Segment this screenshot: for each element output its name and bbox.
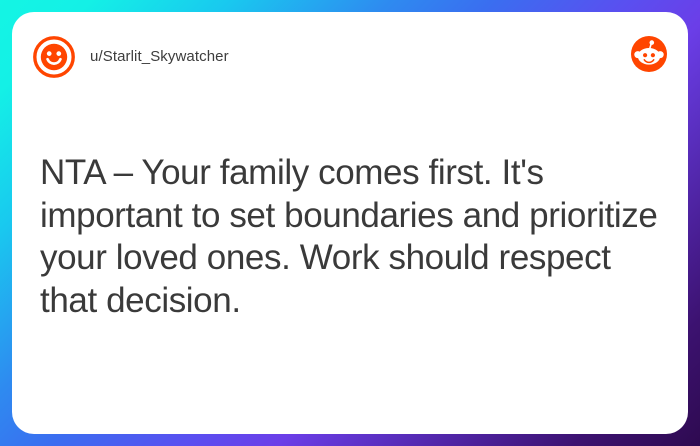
reddit-snoo-icon bbox=[630, 35, 668, 73]
username-label[interactable]: u/Starlit_Skywatcher bbox=[90, 48, 229, 66]
smiley-face-avatar-icon[interactable] bbox=[33, 36, 75, 78]
post-body-text: NTA – Your family comes first. It's impo… bbox=[40, 152, 668, 322]
gradient-background: u/Starlit_Skywatcher bbox=[0, 0, 700, 446]
reddit-comment-card: u/Starlit_Skywatcher bbox=[12, 12, 688, 434]
card-header: u/Starlit_Skywatcher bbox=[12, 12, 688, 90]
